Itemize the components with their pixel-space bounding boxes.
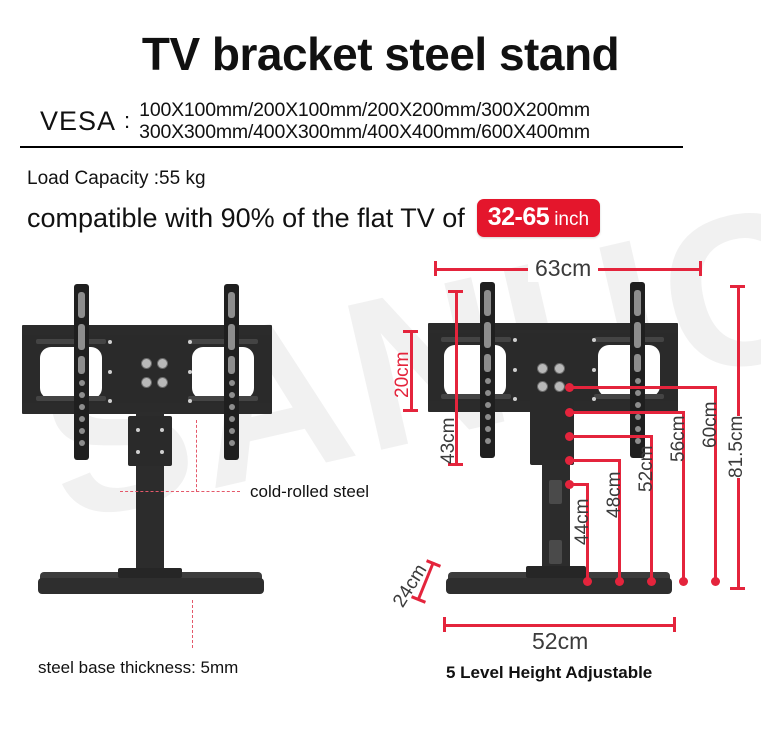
base-thickness-leader — [192, 600, 193, 648]
rail-height-label: 43cm — [438, 418, 460, 464]
inch-range-badge: 32-65 inch — [477, 199, 600, 237]
level-leader-48-h — [569, 459, 621, 462]
dim-plate-dot-2 — [513, 368, 517, 372]
dim-rail-slot-r2 — [634, 322, 641, 348]
infographic-page: SANUCE TV bracket steel stand VESA : 100… — [0, 0, 761, 734]
level-leader-60-h — [569, 386, 717, 389]
level-label-44: 44cm — [572, 499, 594, 545]
dim-base-collar — [526, 566, 586, 578]
dim-cutout-right — [598, 345, 660, 397]
dim-screw-3 — [537, 381, 548, 392]
level-leader-52-h — [569, 435, 653, 438]
overall-height-label: 81.5cm — [724, 416, 750, 478]
dim-plate-dot-3 — [513, 397, 517, 401]
material-leader-horizontal — [120, 491, 240, 492]
dim-rail-right — [630, 282, 645, 458]
level-dot-48 — [565, 456, 574, 465]
dim-column-window-1 — [549, 480, 562, 504]
dim-slot-left — [441, 337, 511, 342]
dim-rail-slot-r3 — [634, 354, 641, 372]
dim-rail-hole-r1 — [635, 378, 641, 384]
dim-plate-dot-4 — [592, 338, 596, 342]
dim-rail-slot-l2 — [484, 322, 491, 348]
bracket-height-label: 20cm — [392, 352, 414, 398]
level-end-dot-44 — [583, 577, 592, 586]
material-annotation-label: cold-rolled steel — [250, 482, 369, 502]
dim-rail-hole-l2 — [485, 390, 491, 396]
level-label-60: 60cm — [700, 402, 722, 448]
vesa-label: VESA — [40, 106, 122, 137]
dim-rail-hole-r6 — [635, 438, 641, 444]
vesa-spec-row: VESA : 100X100mm/200X100mm/200X200mm/300… — [40, 97, 700, 145]
level-label-56: 56cm — [668, 416, 690, 462]
material-leader-vertical — [196, 420, 197, 492]
dim-rail-slot-r1 — [634, 290, 641, 316]
base-thickness-caption: steel base thickness: 5mm — [38, 658, 238, 678]
rail-height-cap-top — [448, 290, 463, 293]
inch-range-value: 32-65 — [488, 203, 549, 232]
dim-cutout-left — [444, 345, 506, 397]
compatibility-row: compatible with 90% of the flat TV of 32… — [27, 198, 600, 238]
level-dot-60 — [565, 383, 574, 392]
header-divider — [20, 146, 683, 148]
dim-rail-hole-l3 — [485, 402, 491, 408]
load-capacity-text: Load Capacity :55 kg — [27, 168, 206, 190]
compatibility-text: compatible with 90% of the flat TV of — [27, 203, 465, 234]
level-end-dot-48 — [615, 577, 624, 586]
dim-screw-2 — [554, 363, 565, 374]
dim-rail-hole-l6 — [485, 438, 491, 444]
bracket-height-cap-bottom — [403, 409, 418, 412]
vesa-colon: : — [122, 108, 139, 134]
dim-slot-right-lower — [594, 394, 664, 399]
dim-slot-left-lower — [441, 394, 511, 399]
level-label-48: 48cm — [604, 472, 626, 518]
dim-plate-dot-6 — [592, 397, 596, 401]
dim-rail-hole-r4 — [635, 414, 641, 420]
base-width-line — [443, 624, 676, 627]
level-end-dot-56 — [679, 577, 688, 586]
dim-rail-hole-l1 — [485, 378, 491, 384]
level-end-dot-52 — [647, 577, 656, 586]
page-title: TV bracket steel stand — [0, 27, 761, 81]
overall-height-cap-top — [730, 285, 745, 288]
level-dot-52 — [565, 432, 574, 441]
dim-rail-left — [480, 282, 495, 458]
level-dot-56 — [565, 408, 574, 417]
level-dot-44 — [565, 480, 574, 489]
dim-screw-4 — [554, 381, 565, 392]
dim-rail-slot-l3 — [484, 354, 491, 372]
base-width-cap-left — [443, 617, 446, 632]
base-width-label: 52cm — [532, 628, 588, 655]
dim-rail-slot-l1 — [484, 290, 491, 316]
dim-plate-dot-5 — [592, 368, 596, 372]
width-dim-cap-right — [699, 261, 702, 276]
vesa-values: 100X100mm/200X100mm/200X200mm/300X200mm … — [139, 99, 590, 143]
dim-rail-hole-l4 — [485, 414, 491, 420]
height-adjustable-caption: 5 Level Height Adjustable — [446, 663, 652, 683]
dim-base-plate — [446, 578, 672, 594]
level-label-52: 52cm — [636, 446, 658, 492]
inch-unit-label: inch — [554, 209, 589, 231]
vesa-line-1: 100X100mm/200X100mm/200X200mm/300X200mm — [139, 99, 590, 121]
dim-screw-1 — [537, 363, 548, 374]
overall-height-cap-bottom — [730, 587, 745, 590]
dim-rail-hole-l5 — [485, 426, 491, 432]
width-dimension-label: 63cm — [528, 255, 598, 282]
level-leader-56-h — [569, 411, 685, 414]
dim-slot-right — [594, 337, 664, 342]
bracket-height-cap-top — [403, 330, 418, 333]
dim-plate-dot-1 — [513, 338, 517, 342]
width-dim-cap-left — [434, 261, 437, 276]
dim-rail-hole-r2 — [635, 390, 641, 396]
dim-rail-hole-r5 — [635, 426, 641, 432]
base-width-cap-right — [673, 617, 676, 632]
vesa-line-2: 300X300mm/400X300mm/400X400mm/600X400mm — [139, 121, 590, 143]
level-end-dot-60 — [711, 577, 720, 586]
dim-rail-hole-r3 — [635, 402, 641, 408]
dim-column-window-2 — [549, 540, 562, 564]
